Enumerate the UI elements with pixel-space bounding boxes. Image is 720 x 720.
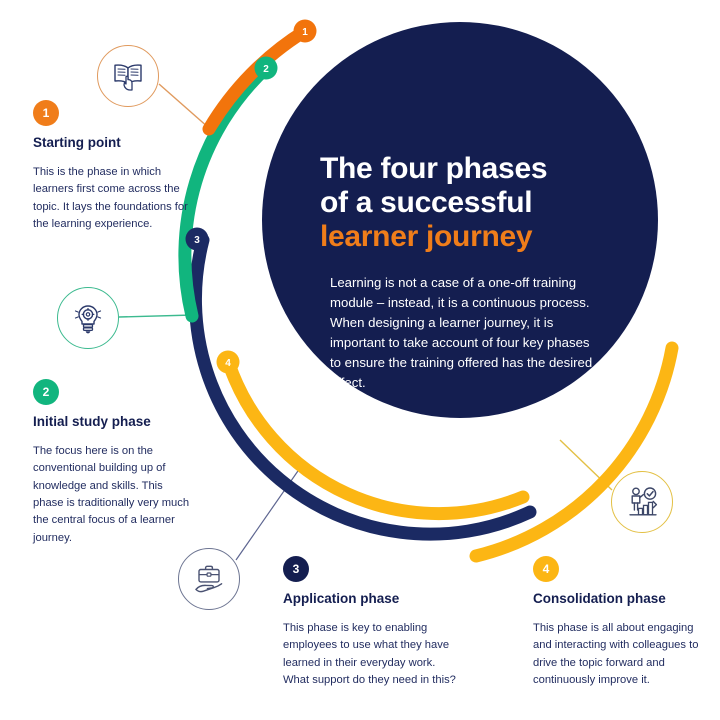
connector-line-phase-3 — [236, 468, 300, 560]
phase-4-badge: 4 — [533, 556, 559, 582]
hero-description: Learning is not a case of a one-off trai… — [320, 273, 598, 393]
lightbulb-gear-icon — [72, 301, 104, 335]
connector-line-phase-2 — [119, 315, 193, 317]
phase-4-badge-number: 4 — [543, 562, 550, 576]
growth-chart-person-icon-bubble — [611, 471, 673, 533]
ring-marker-3-label: 3 — [194, 235, 200, 246]
ring-marker-2-label: 2 — [263, 64, 269, 75]
phase-3-badge: 3 — [283, 556, 309, 582]
ring-marker-1[interactable]: 1 — [294, 20, 317, 43]
phase-2-body: The focus here is on the conventional bu… — [33, 443, 193, 547]
phase-1-body: This is the phase in which learners firs… — [33, 164, 193, 233]
title-line-1: The four phases — [320, 152, 620, 186]
arc-phase-1 — [209, 31, 305, 129]
phase-3-body: This phase is key to enabling employees … — [283, 620, 458, 689]
ring-marker-4[interactable]: 4 — [217, 351, 240, 374]
phase-3-badge-number: 3 — [293, 562, 300, 576]
phase-block-1: 1 Starting point This is the phase in wh… — [33, 100, 193, 233]
ring-marker-4-label: 4 — [225, 358, 231, 369]
phase-1-badge: 1 — [33, 100, 59, 126]
phase-2-badge-number: 2 — [43, 385, 50, 399]
phase-block-3: 3 Application phase This phase is key to… — [283, 556, 458, 689]
connector-line-phase-4 — [560, 440, 612, 490]
growth-chart-person-icon — [624, 485, 660, 519]
phase-block-2: 2 Initial study phase The focus here is … — [33, 379, 193, 547]
phase-1-badge-number: 1 — [43, 106, 50, 120]
lightbulb-gear-icon-bubble — [57, 287, 119, 349]
open-book-icon — [111, 61, 145, 91]
briefcase-on-hand-icon — [192, 563, 226, 595]
phase-1-title: Starting point — [33, 135, 193, 152]
briefcase-on-hand-icon-bubble — [178, 548, 240, 610]
title-accent-line: learner journey — [320, 220, 620, 254]
ring-marker-1-label: 1 — [302, 27, 308, 38]
hero-circle: The four phases of a successful learner … — [262, 22, 658, 418]
arc-phase-2 — [185, 68, 266, 316]
phase-2-badge: 2 — [33, 379, 59, 405]
infographic-canvas: 1 2 3 4 The four phases of a successful … — [0, 0, 720, 720]
phase-2-title: Initial study phase — [33, 414, 193, 431]
phase-4-body: This phase is all about engaging and int… — [533, 620, 701, 689]
phase-4-title: Consolidation phase — [533, 591, 701, 608]
phase-3-title: Application phase — [283, 591, 458, 608]
title-line-2: of a successful — [320, 186, 620, 220]
ring-marker-2[interactable]: 2 — [255, 57, 278, 80]
phase-block-4: 4 Consolidation phase This phase is all … — [533, 556, 701, 689]
open-book-icon-bubble — [97, 45, 159, 107]
page-title: The four phases of a successful learner … — [320, 152, 620, 255]
